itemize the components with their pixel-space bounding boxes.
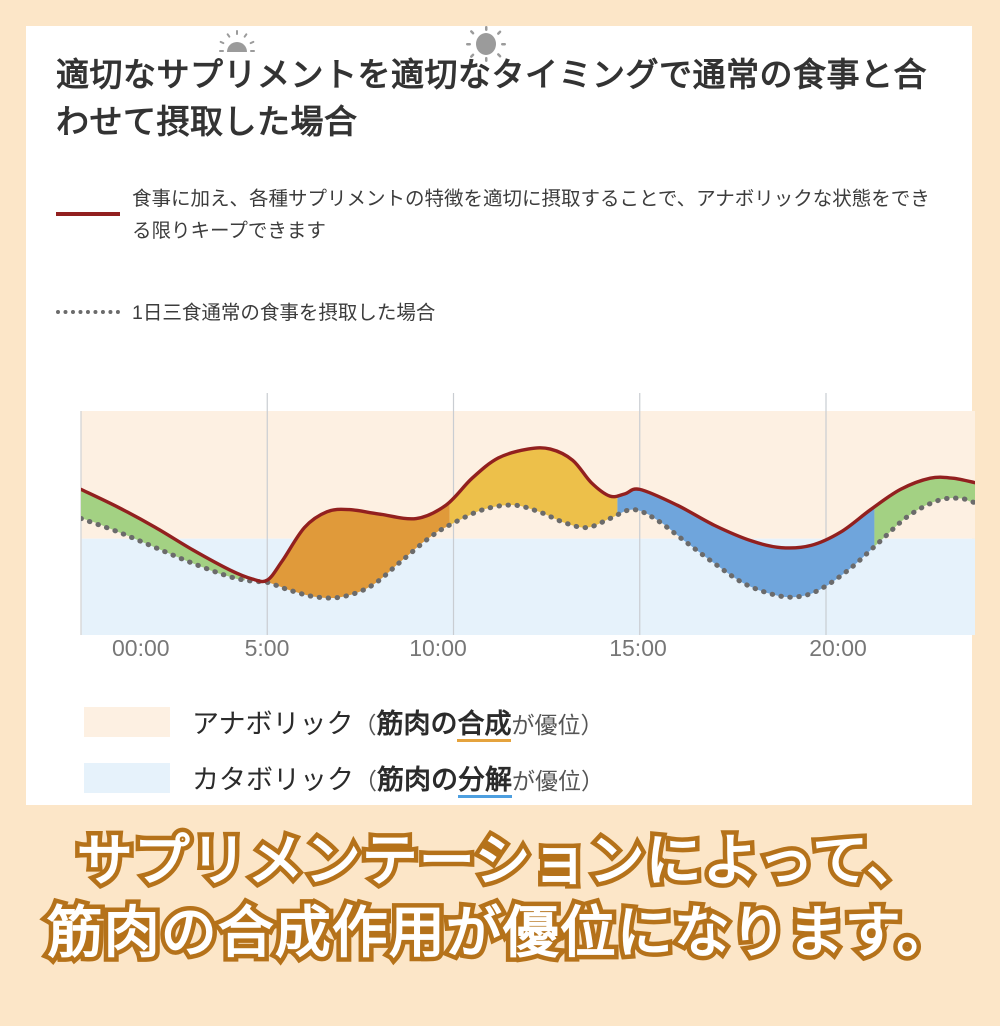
x-tick-3: 15:00 — [609, 635, 667, 662]
sunrise-icon — [217, 26, 257, 62]
legend-dotted-swatch — [56, 310, 120, 314]
legend-item-supplement: 食事に加え、各種サプリメントの特徴を適切に摂取することで、アナボリックな状態をで… — [56, 184, 946, 247]
catabolic-bold-prefix: 筋肉の — [377, 765, 458, 795]
anabolic-paren-open: （ — [353, 712, 376, 738]
x-axis: 00:00 5:00 10:00 15:00 20:00 — [55, 635, 975, 671]
catabolic-swatch — [84, 763, 170, 793]
info-card: 適切なサプリメントを適切なタイミングで通常の食事と合わせて摂取した場合 食事に加… — [26, 26, 972, 805]
chart-plot-area — [55, 345, 975, 635]
legend-item-normal-label: 1日三食通常の食事を摂取した場合 — [132, 302, 435, 324]
caption-line-1: サプリメンテーションによって、 — [0, 826, 1000, 898]
page-title: 適切なサプリメントを適切なタイミングで通常の食事と合わせて摂取した場合 — [56, 52, 946, 146]
anabolic-name: アナボリック — [192, 709, 353, 739]
chart-bands — [81, 411, 975, 635]
band-legend: アナボリック（筋肉の合成が優位） カタボリック（筋肉の分解が優位） — [84, 702, 604, 814]
catabolic-paren-open: （ — [354, 768, 377, 794]
band-legend-row-anabolic: アナボリック（筋肉の合成が優位） — [84, 702, 604, 741]
x-tick-1: 5:00 — [245, 635, 290, 662]
anabolic-label: アナボリック（筋肉の合成が優位） — [192, 702, 603, 741]
x-tick-4: 20:00 — [809, 635, 867, 662]
catabolic-tail: が優位 — [512, 768, 581, 794]
legend-solid-swatch — [56, 212, 120, 216]
legend-item-normal: 1日三食通常の食事を摂取した場合 — [56, 298, 946, 330]
catabolic-paren-close: ） — [581, 768, 604, 794]
x-tick-0: 00:00 — [112, 635, 170, 662]
anabolic-bold-prefix: 筋肉の — [376, 709, 457, 739]
anabolic-swatch — [84, 707, 170, 737]
bottom-caption: サプリメンテーションによって、 筋肉の合成作用が優位になります。 — [0, 826, 1000, 969]
legend-item-supplement-label: 食事に加え、各種サプリメントの特徴を適切に摂取することで、アナボリックな状態をで… — [132, 184, 932, 247]
catabolic-label: カタボリック（筋肉の分解が優位） — [192, 758, 604, 797]
catabolic-underlined: 分解 — [458, 765, 512, 798]
caption-line-2: 筋肉の合成作用が優位になります。 — [0, 898, 1000, 970]
anabolic-catabolic-chart — [55, 345, 975, 645]
x-tick-2: 10:00 — [409, 635, 467, 662]
band-legend-row-catabolic: カタボリック（筋肉の分解が優位） — [84, 758, 604, 797]
anabolic-tail: が優位 — [511, 712, 580, 738]
anabolic-underlined: 合成 — [457, 709, 511, 742]
sun-icon — [466, 26, 506, 62]
moon-icon — [796, 26, 836, 62]
catabolic-name: カタボリック — [192, 765, 354, 795]
anabolic-paren-close: ） — [580, 712, 603, 738]
time-of-day-icons — [26, 26, 946, 66]
